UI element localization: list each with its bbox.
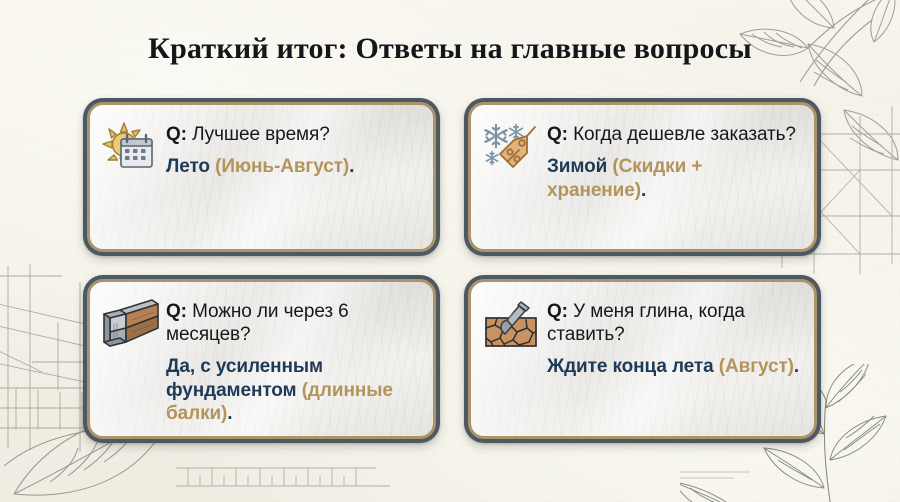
answer-main: Ждите конца лета: [547, 356, 714, 377]
summary-card-cheapest-order[interactable]: Q: Когда дешевле заказать? Зимой (Скидки…: [464, 98, 821, 256]
answer-end: .: [794, 356, 799, 377]
question-text: Когда дешевле заказать?: [568, 124, 796, 145]
answer-end: .: [349, 156, 354, 177]
answer-main: Лето: [166, 156, 210, 177]
answer-note: (Август): [719, 356, 794, 377]
card-question: Q: Можно ли через 6 месяцев?: [166, 300, 419, 346]
question-prefix: Q:: [166, 124, 187, 145]
summary-card-clay-soil[interactable]: Q: У меня глина, когда ставить? Ждите ко…: [464, 275, 821, 443]
answer-note: (Июнь-Август): [215, 156, 349, 177]
slide-canvas: Краткий итог: Ответы на главные вопросы: [0, 0, 900, 502]
answer-main: Да, с усиленным фундаментом: [166, 356, 323, 401]
question-prefix: Q:: [166, 301, 187, 322]
question-prefix: Q:: [547, 301, 568, 322]
sun-calendar-icon: [102, 121, 160, 179]
summary-card-six-months[interactable]: Q: Можно ли через 6 месяцев? Да, с усиле…: [83, 275, 440, 443]
shovel-clay-soil-icon: [483, 298, 541, 356]
card-question: Q: Когда дешевле заказать?: [547, 123, 800, 146]
question-prefix: Q:: [547, 124, 568, 145]
summary-card-best-time[interactable]: Q: Лучшее время? Лето (Июнь-Август).: [83, 98, 440, 256]
card-question: Q: У меня глина, когда ставить?: [547, 300, 800, 346]
question-text: Лучшее время?: [187, 124, 330, 145]
steel-i-beam-icon: [102, 298, 160, 356]
answer-main: Зимой: [547, 156, 607, 177]
card-question: Q: Лучшее время?: [166, 123, 419, 146]
card-answer: Ждите конца лета (Август).: [547, 355, 800, 379]
card-answer: Да, с усиленным фундаментом (длинные бал…: [166, 355, 419, 426]
question-text: У меня глина, когда ставить?: [547, 301, 745, 345]
summary-card-grid: Q: Лучшее время? Лето (Июнь-Август).: [83, 98, 821, 443]
answer-end: .: [227, 403, 232, 424]
card-answer: Лето (Июнь-Август).: [166, 155, 419, 179]
blueprint-scale-bottom-decoration: [176, 456, 396, 498]
card-answer: Зимой (Скидки + хранение).: [547, 155, 800, 202]
question-text: Можно ли через 6 месяцев?: [166, 301, 349, 345]
answer-end: .: [641, 180, 646, 201]
page-title: Краткий итог: Ответы на главные вопросы: [0, 32, 900, 66]
snowflake-discount-tag-icon: [483, 121, 541, 179]
